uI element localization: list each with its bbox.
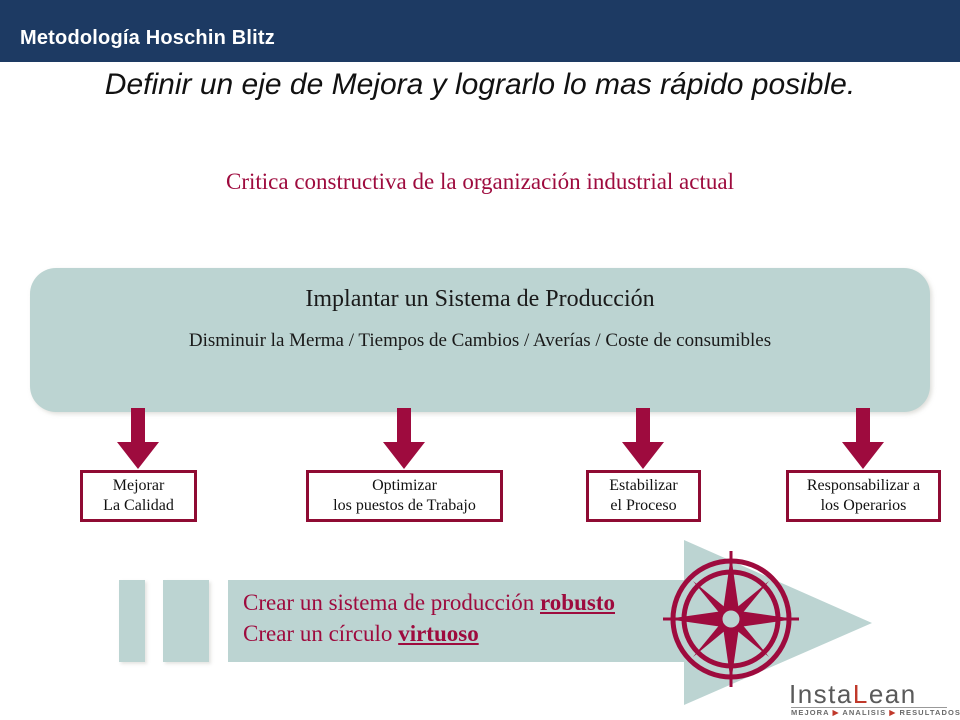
arrow-segment-2: [163, 580, 209, 662]
bottom-goal-line-1-prefix: Crear un sistema de producción: [243, 590, 540, 615]
outcome-box-proceso[interactable]: Estabilizar el Proceso: [586, 470, 701, 522]
bottom-goal-line-2-emphasis: virtuoso: [398, 621, 479, 646]
main-objective-box: Implantar un Sistema de Producción Dismi…: [30, 268, 930, 412]
compass-rose-icon: [661, 549, 801, 689]
outcome-box-puestos[interactable]: Optimizar los puestos de Trabajo: [306, 470, 503, 522]
down-arrow-icon: [840, 408, 886, 470]
arrow-segment-1: [119, 580, 145, 662]
down-arrow-icon: [381, 408, 427, 470]
logo-word-part2: ean: [869, 679, 917, 709]
outcome-line-1: Optimizar: [372, 476, 437, 496]
outcome-line-1: Mejorar: [113, 476, 165, 496]
down-arrow-icon: [620, 408, 666, 470]
bottom-goal-line-1-emphasis: robusto: [540, 590, 615, 615]
logo-tagline-2: ANALISIS: [842, 708, 886, 717]
bottom-goal-text: Crear un sistema de producción robusto C…: [243, 587, 615, 649]
down-arrow-icon: [115, 408, 161, 470]
outcome-box-calidad[interactable]: Mejorar La Calidad: [80, 470, 197, 522]
logo-tagline-3: RESULTADOS: [899, 708, 960, 717]
critique-line: Critica constructiva de la organización …: [0, 169, 960, 195]
bottom-goal-line-2-prefix: Crear un círculo: [243, 621, 398, 646]
instalean-logo: InstaLean MEJORA ▶ ANALISIS ▶ RESULTADOS: [789, 679, 949, 717]
outcome-line-1: Estabilizar: [609, 476, 677, 496]
logo-word-accent: L: [853, 679, 869, 709]
bottom-goal-line-1: Crear un sistema de producción robusto: [243, 587, 615, 618]
logo-tagline-1: MEJORA: [791, 708, 829, 717]
slide-subtitle: Definir un eje de Mejora y lograrlo lo m…: [0, 68, 960, 102]
outcome-line-1: Responsabilizar a: [807, 476, 920, 496]
outcome-line-2: los puestos de Trabajo: [333, 496, 476, 516]
logo-tagline: MEJORA ▶ ANALISIS ▶ RESULTADOS: [791, 708, 960, 717]
logo-wordmark: InstaLean: [789, 679, 917, 710]
main-objective-title: Implantar un Sistema de Producción: [30, 286, 930, 313]
bottom-goal-line-2: Crear un círculo virtuoso: [243, 618, 615, 649]
main-objective-subtitle: Disminuir la Merma / Tiempos de Cambios …: [30, 330, 930, 352]
logo-word-part1: Insta: [789, 679, 853, 709]
outcome-line-2: La Calidad: [103, 496, 174, 516]
header-bar: Metodología Hoschin Blitz: [0, 0, 960, 62]
page-title: Metodología Hoschin Blitz: [20, 27, 275, 50]
logo-tagline-sep-2: ▶: [889, 708, 896, 717]
outcome-line-2: el Proceso: [610, 496, 676, 516]
logo-tagline-sep-1: ▶: [833, 708, 840, 717]
outcome-line-2: los Operarios: [821, 496, 907, 516]
outcome-box-operarios[interactable]: Responsabilizar a los Operarios: [786, 470, 941, 522]
